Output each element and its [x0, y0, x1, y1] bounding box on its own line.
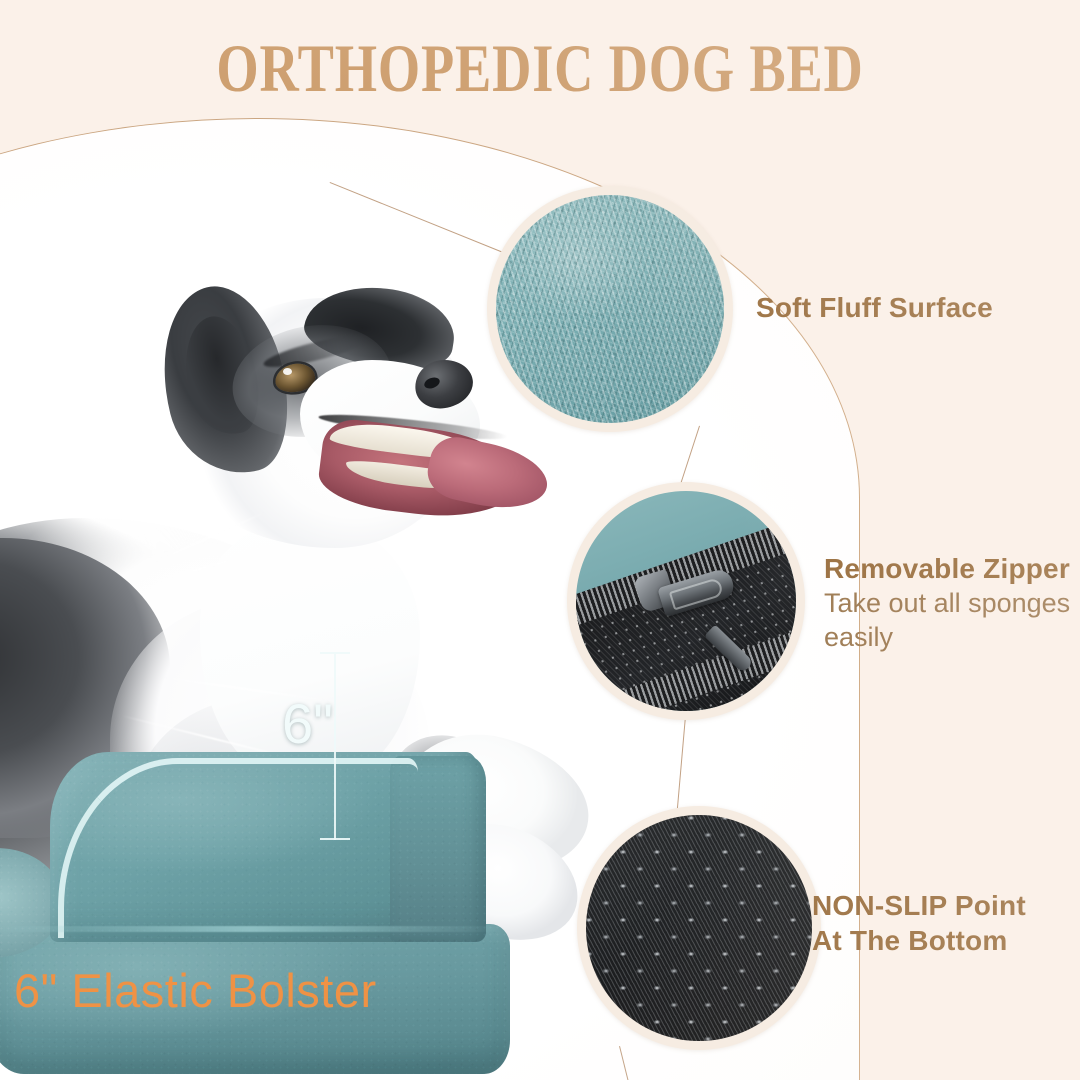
feature-title-nonslip: NON-SLIP Point	[812, 888, 1026, 923]
feature-label-nonslip: NON-SLIP Point At The Bottom	[812, 888, 1026, 958]
dog-eye-highlight	[283, 368, 292, 375]
dog-bed-product	[0, 728, 540, 1080]
zipper-closeup-icon	[576, 491, 796, 711]
feature-circle-fluff[interactable]	[487, 186, 733, 432]
dimension-label: 6"	[282, 696, 402, 752]
product-infographic: ORTHOPEDIC DOG BED	[0, 0, 1080, 1080]
bolster-height-dimension: 6"	[300, 648, 440, 848]
feature-label-zipper: Removable Zipper Take out all sponges ea…	[824, 551, 1076, 654]
feature-subtitle-zipper: Take out all sponges easily	[824, 586, 1076, 654]
feature-subtitle-nonslip: At The Bottom	[812, 923, 1026, 958]
page-title: ORTHOPEDIC DOG BED	[108, 34, 972, 102]
feature-circle-nonslip[interactable]	[577, 806, 821, 1050]
non-slip-dots-icon	[586, 815, 812, 1041]
bolster-caption: 6" Elastic Bolster	[14, 967, 377, 1014]
bed-base-seam	[0, 926, 506, 932]
feature-title-fluff: Soft Fluff Surface	[756, 290, 993, 325]
fluff-fabric-swatch-icon	[496, 195, 724, 423]
feature-circle-zipper[interactable]	[567, 482, 805, 720]
feature-title-zipper: Removable Zipper	[824, 551, 1076, 586]
feature-label-fluff: Soft Fluff Surface	[756, 290, 993, 325]
dimension-cap-bottom	[320, 838, 350, 840]
